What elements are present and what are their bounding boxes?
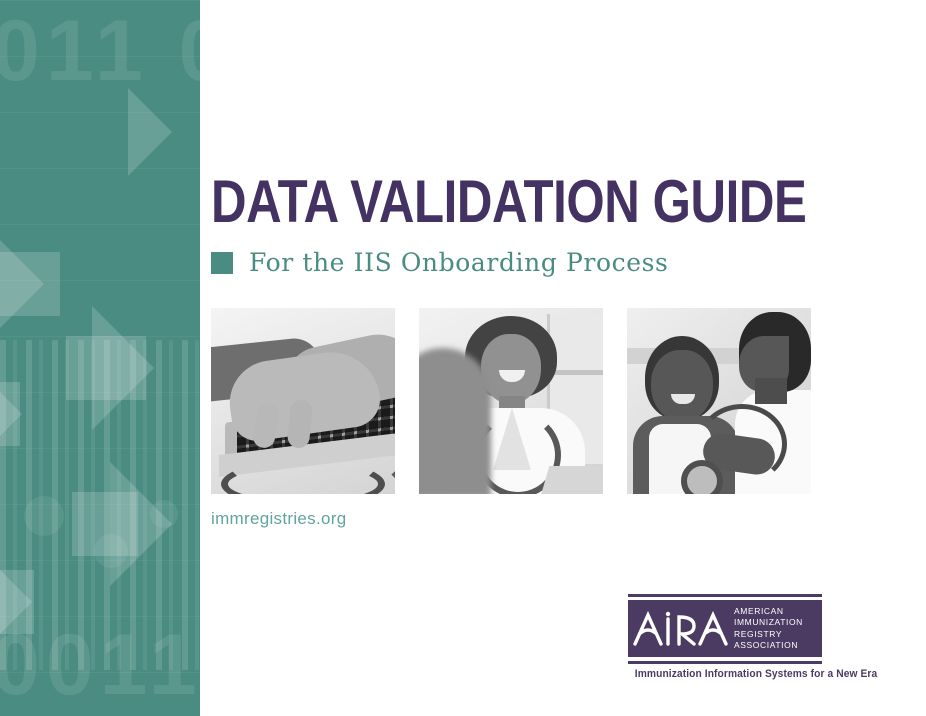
page-subtitle: For the IIS Onboarding Process [249,248,668,277]
org-line-2: IMMUNIZATION [734,617,822,629]
subtitle-row: For the IIS Onboarding Process [211,248,668,277]
photo-row [211,308,811,494]
arrow-tail [66,336,146,400]
decorative-side-panel: 011 00 001101 [0,0,200,716]
logo-top-rule [628,594,822,597]
dot-shape [150,500,178,528]
aira-logo: AMERICAN IMMUNIZATION REGISTRY ASSOCIATI… [628,594,822,680]
aira-wordmark-icon [628,600,732,657]
org-line-1: AMERICAN [734,606,822,618]
org-line-3: REGISTRY [734,629,822,641]
logo-box: AMERICAN IMMUNIZATION REGISTRY ASSOCIATI… [628,600,822,657]
binary-pattern-bottom: 001101 [0,622,200,708]
arrow-shape [128,88,172,176]
logo-bottom-rule [628,661,822,664]
cover-page: 011 00 001101 DATA VALIDATION GUIDE For … [0,0,926,716]
dot-shape [94,534,128,568]
org-line-4: ASSOCIATION [734,640,822,652]
dot-shape [24,496,64,536]
arrow-tail [0,382,20,446]
aira-org-name: AMERICAN IMMUNIZATION REGISTRY ASSOCIATI… [732,600,822,657]
photo-laptop-typing [211,308,395,494]
page-title: DATA VALIDATION GUIDE [211,172,806,232]
square-bullet-icon [211,252,233,274]
website-url[interactable]: immregistries.org [211,509,346,529]
logo-tagline: Immunization Information Systems for a N… [635,668,815,680]
arrow-tail [0,252,60,316]
photo-child-exam [627,308,811,494]
photo-doctor-smiling [419,308,603,494]
